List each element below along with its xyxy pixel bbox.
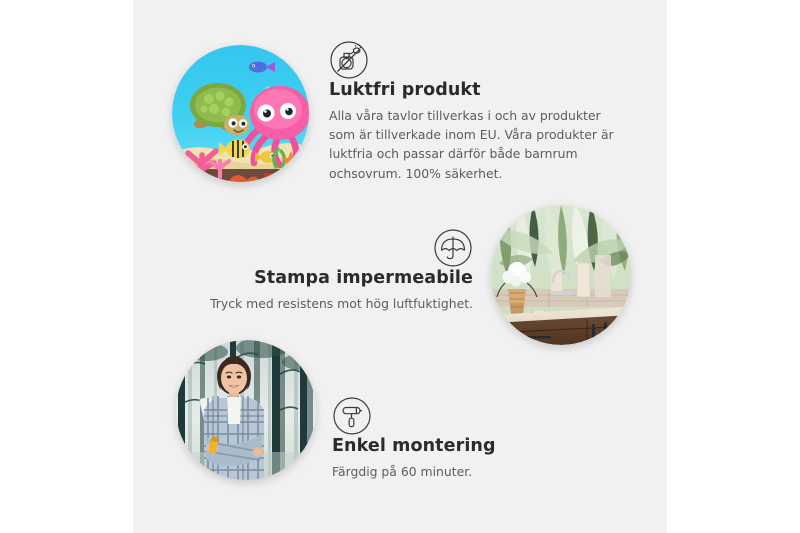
- umbrella-icon: [433, 228, 473, 268]
- feature-title-waterproof: Stampa impermeabile: [173, 268, 473, 290]
- feature-description-odourless: Alla våra tavlor tillverkas i och av pro…: [329, 106, 629, 183]
- feature-text-waterproof: Stampa impermeabile Tryck med resistens …: [173, 228, 473, 313]
- feature-image-underwater-cartoon-scene: [172, 45, 309, 182]
- feature-description-easy-mounting: Färgdig på 60 minuter.: [332, 462, 632, 481]
- promo-infographic: Luktfri produkt Alla våra tavlor tillver…: [0, 0, 800, 533]
- feature-title-easy-mounting: Enkel montering: [332, 436, 632, 458]
- content-panel: Luktfri produkt Alla våra tavlor tillver…: [133, 0, 667, 533]
- paint-roller-icon: [332, 396, 372, 436]
- feature-image-bathroom-botanical-wallpaper: [491, 205, 631, 345]
- feature-title-odourless: Luktfri produkt: [329, 80, 629, 102]
- feature-image-woman-with-paint-roller-forest-mural: [176, 340, 316, 480]
- feature-text-odourless: Luktfri produkt Alla våra tavlor tillver…: [329, 40, 629, 183]
- no-perfume-icon: [329, 40, 369, 80]
- feature-text-easy-mounting: Enkel montering Färgdig på 60 minuter.: [332, 396, 632, 481]
- feature-description-waterproof: Tryck med resistens mot hög luftfuktighe…: [173, 294, 473, 313]
